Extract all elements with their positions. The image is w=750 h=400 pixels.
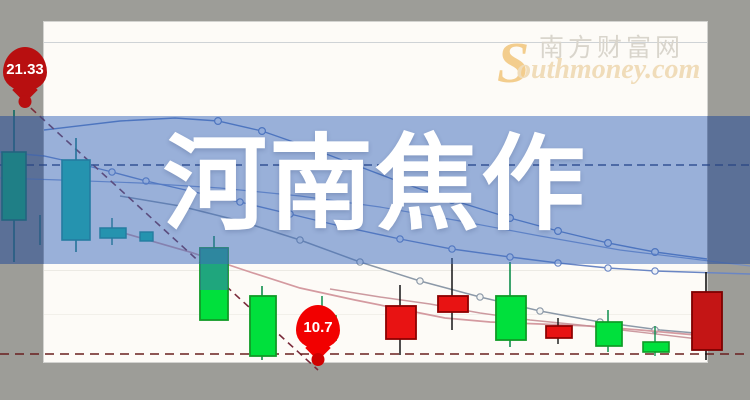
band-gutter-right (707, 116, 750, 264)
low-price-label: 10.7 (296, 305, 340, 349)
low-price-marker[interactable]: 10.7 (296, 305, 340, 349)
high-price-label: 21.33 (3, 47, 47, 91)
high-price-marker[interactable]: 21.33 (3, 47, 47, 91)
ma-mid-markers (73, 160, 658, 274)
band-gutter-left (0, 116, 44, 264)
ma-slate-markers (297, 237, 658, 333)
low-price-dot (312, 353, 325, 366)
candle-series (2, 110, 722, 360)
candlestick-chart (0, 0, 750, 400)
high-price-dot (19, 95, 32, 108)
chart-screenshot: 河南焦作 S 南方财富网 outhmoney.com 21.33 10.7 (0, 0, 750, 400)
